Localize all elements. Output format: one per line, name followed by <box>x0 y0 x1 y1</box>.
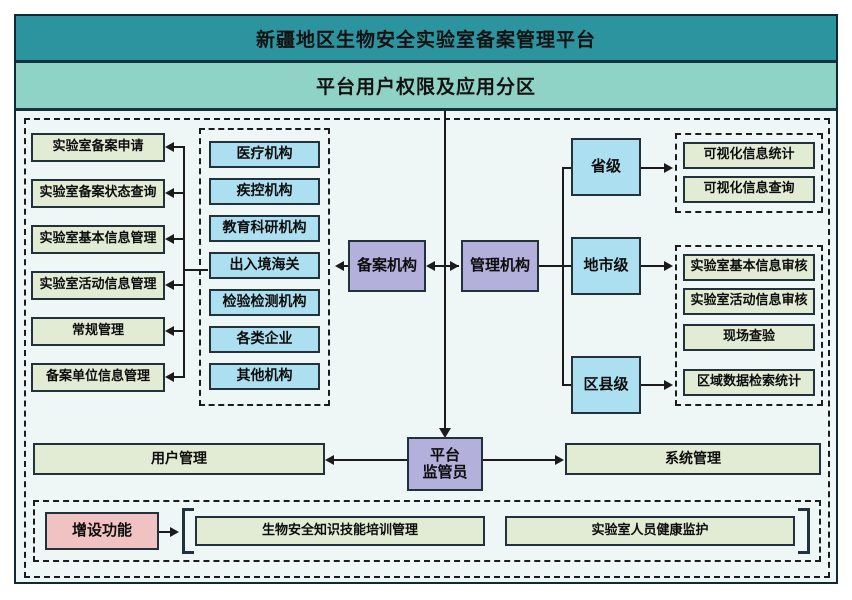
city-district-function-1[interactable]: 实验室活动信息审核 <box>683 288 815 315</box>
province-function-1[interactable]: 可视化信息查询 <box>683 176 815 203</box>
city-district-function-1-label: 实验室活动信息审核 <box>690 294 807 309</box>
filing-function-arrow-0-icon <box>165 142 174 152</box>
city-connector-arrow-icon <box>664 261 673 271</box>
added-features-node[interactable]: 增设功能 <box>45 512 159 550</box>
system-management-label: 系统管理 <box>665 451 721 467</box>
filing-function-0[interactable]: 实验室备案申请 <box>31 133 165 162</box>
city-district-function-0[interactable]: 实验室基本信息审核 <box>683 254 815 281</box>
platform-supervisor-node[interactable]: 平台 监管员 <box>407 437 483 491</box>
filing-function-1-label: 实验室备案状态查询 <box>39 186 156 201</box>
filing-org-label: 备案机构 <box>357 257 417 274</box>
filing-function-5-label: 备案单位信息管理 <box>46 370 150 385</box>
platform-subtitle-bar: 平台用户权限及应用分区 <box>16 63 836 111</box>
admin-level-1-label: 地市级 <box>583 257 628 274</box>
admin-level-2[interactable]: 区县级 <box>571 356 641 414</box>
platform-supervisor-label-line1: 平台 <box>430 447 460 464</box>
admin-level-0[interactable]: 省级 <box>571 138 641 196</box>
system-management-node[interactable]: 系统管理 <box>565 443 821 475</box>
province-function-0[interactable]: 可视化信息统计 <box>683 142 815 169</box>
filing-org-node[interactable]: 备案机构 <box>348 240 426 292</box>
city-district-function-3[interactable]: 区域数据检索统计 <box>683 369 815 396</box>
platform-supervisor-label-line2: 监管员 <box>422 464 467 481</box>
filing-function-5[interactable]: 备案单位信息管理 <box>31 363 165 392</box>
filing-institution-2-label: 教育科研机构 <box>223 220 307 236</box>
filing-function-2-label: 实验室基本信息管理 <box>39 232 156 247</box>
filing-function-3-label: 实验室活动信息管理 <box>39 278 156 293</box>
filing-org-to-institutions-arrow-icon <box>335 261 344 271</box>
filing-institution-1-label: 疾控机构 <box>237 183 293 199</box>
filing-function-arrow-3-icon <box>165 280 174 290</box>
filing-institution-5[interactable]: 各类企业 <box>209 326 320 353</box>
province-function-1-label: 可视化信息查询 <box>703 182 794 197</box>
center-divider-line <box>444 111 446 431</box>
filing-institution-3[interactable]: 出入境海关 <box>209 252 320 279</box>
added-features-arrow-icon <box>170 527 179 537</box>
org-link-arrow-left-icon <box>426 261 435 271</box>
filing-function-arrow-1-icon <box>165 188 174 198</box>
filing-function-arrow-2-icon <box>165 234 174 244</box>
filing-institution-4-label: 检验检测机构 <box>223 294 307 310</box>
province-function-0-label: 可视化信息统计 <box>703 148 794 163</box>
city-district-function-2-label: 现场查验 <box>723 330 775 345</box>
admin-level-1[interactable]: 地市级 <box>571 237 641 295</box>
filing-institution-0-label: 医疗机构 <box>237 146 293 162</box>
added-features-label: 增设功能 <box>72 522 132 539</box>
management-to-levels-bus <box>562 168 564 386</box>
city-district-function-0-label: 实验室基本信息审核 <box>690 260 807 275</box>
filing-function-4-label: 常规管理 <box>72 324 124 339</box>
supervisor-to-user-line <box>334 459 407 461</box>
filing-function-connector-4 <box>174 330 185 332</box>
management-org-label: 管理机构 <box>470 257 530 274</box>
filing-function-connector-1 <box>174 192 185 194</box>
filing-function-0-label: 实验室备案申请 <box>52 140 143 155</box>
province-connector <box>641 167 666 169</box>
filing-function-arrow-5-icon <box>165 372 174 382</box>
platform-title: 新疆地区生物安全实验室备案管理平台 <box>256 25 596 52</box>
filing-institution-6-label: 其他机构 <box>237 368 293 384</box>
management-to-levels-stem <box>539 265 563 267</box>
supervisor-to-system-arrow-icon <box>555 455 564 465</box>
filing-institution-6[interactable]: 其他机构 <box>209 363 320 390</box>
filing-institution-2[interactable]: 教育科研机构 <box>209 215 320 242</box>
filing-institution-5-label: 各类企业 <box>237 331 293 347</box>
filing-institution-1[interactable]: 疾控机构 <box>209 178 320 205</box>
diagram-canvas: 新疆地区生物安全实验室备案管理平台 平台用户权限及应用分区 实验室备案申请 实验… <box>0 0 852 600</box>
filing-institution-4[interactable]: 检验检测机构 <box>209 289 320 316</box>
platform-subtitle: 平台用户权限及应用分区 <box>316 72 536 99</box>
platform-title-bar: 新疆地区生物安全实验室备案管理平台 <box>16 16 836 63</box>
added-features-bracket-left <box>182 508 194 554</box>
admin-level-0-label: 省级 <box>591 158 621 175</box>
filing-function-connector-3 <box>174 284 185 286</box>
filing-institution-3-label: 出入境海关 <box>230 257 300 273</box>
city-district-function-2[interactable]: 现场查验 <box>683 324 815 351</box>
filing-function-1[interactable]: 实验室备案状态查询 <box>31 179 165 208</box>
filing-function-connector-5 <box>174 376 185 378</box>
admin-level-2-label: 区县级 <box>583 376 628 393</box>
user-management-label: 用户管理 <box>151 451 207 467</box>
added-features-bracket-right <box>798 508 810 554</box>
filing-function-connector-0 <box>174 146 185 148</box>
filing-function-arrow-4-icon <box>165 326 174 336</box>
added-feature-item-1-label: 实验室人员健康监护 <box>591 524 708 539</box>
province-connector-arrow-icon <box>664 163 673 173</box>
filing-function-2[interactable]: 实验室基本信息管理 <box>31 225 165 254</box>
supervisor-to-user-arrow-icon <box>325 455 334 465</box>
city-district-function-3-label: 区域数据检索统计 <box>697 375 801 390</box>
filing-function-4[interactable]: 常规管理 <box>31 317 165 346</box>
city-connector <box>641 265 666 267</box>
org-link-arrow-right-icon <box>450 261 459 271</box>
district-connector-arrow-icon <box>664 380 673 390</box>
added-feature-item-0[interactable]: 生物安全知识技能培训管理 <box>195 516 485 546</box>
management-org-node[interactable]: 管理机构 <box>461 240 539 292</box>
filing-institution-0[interactable]: 医疗机构 <box>209 141 320 168</box>
added-feature-item-1[interactable]: 实验室人员健康监护 <box>505 516 795 546</box>
filing-function-bus-line <box>183 147 185 378</box>
filing-function-3[interactable]: 实验室活动信息管理 <box>31 271 165 300</box>
filing-function-connector-2 <box>174 238 185 240</box>
user-management-node[interactable]: 用户管理 <box>33 443 325 475</box>
district-connector <box>641 384 666 386</box>
added-feature-item-0-label: 生物安全知识技能培训管理 <box>262 524 418 539</box>
supervisor-to-system-line <box>483 459 556 461</box>
